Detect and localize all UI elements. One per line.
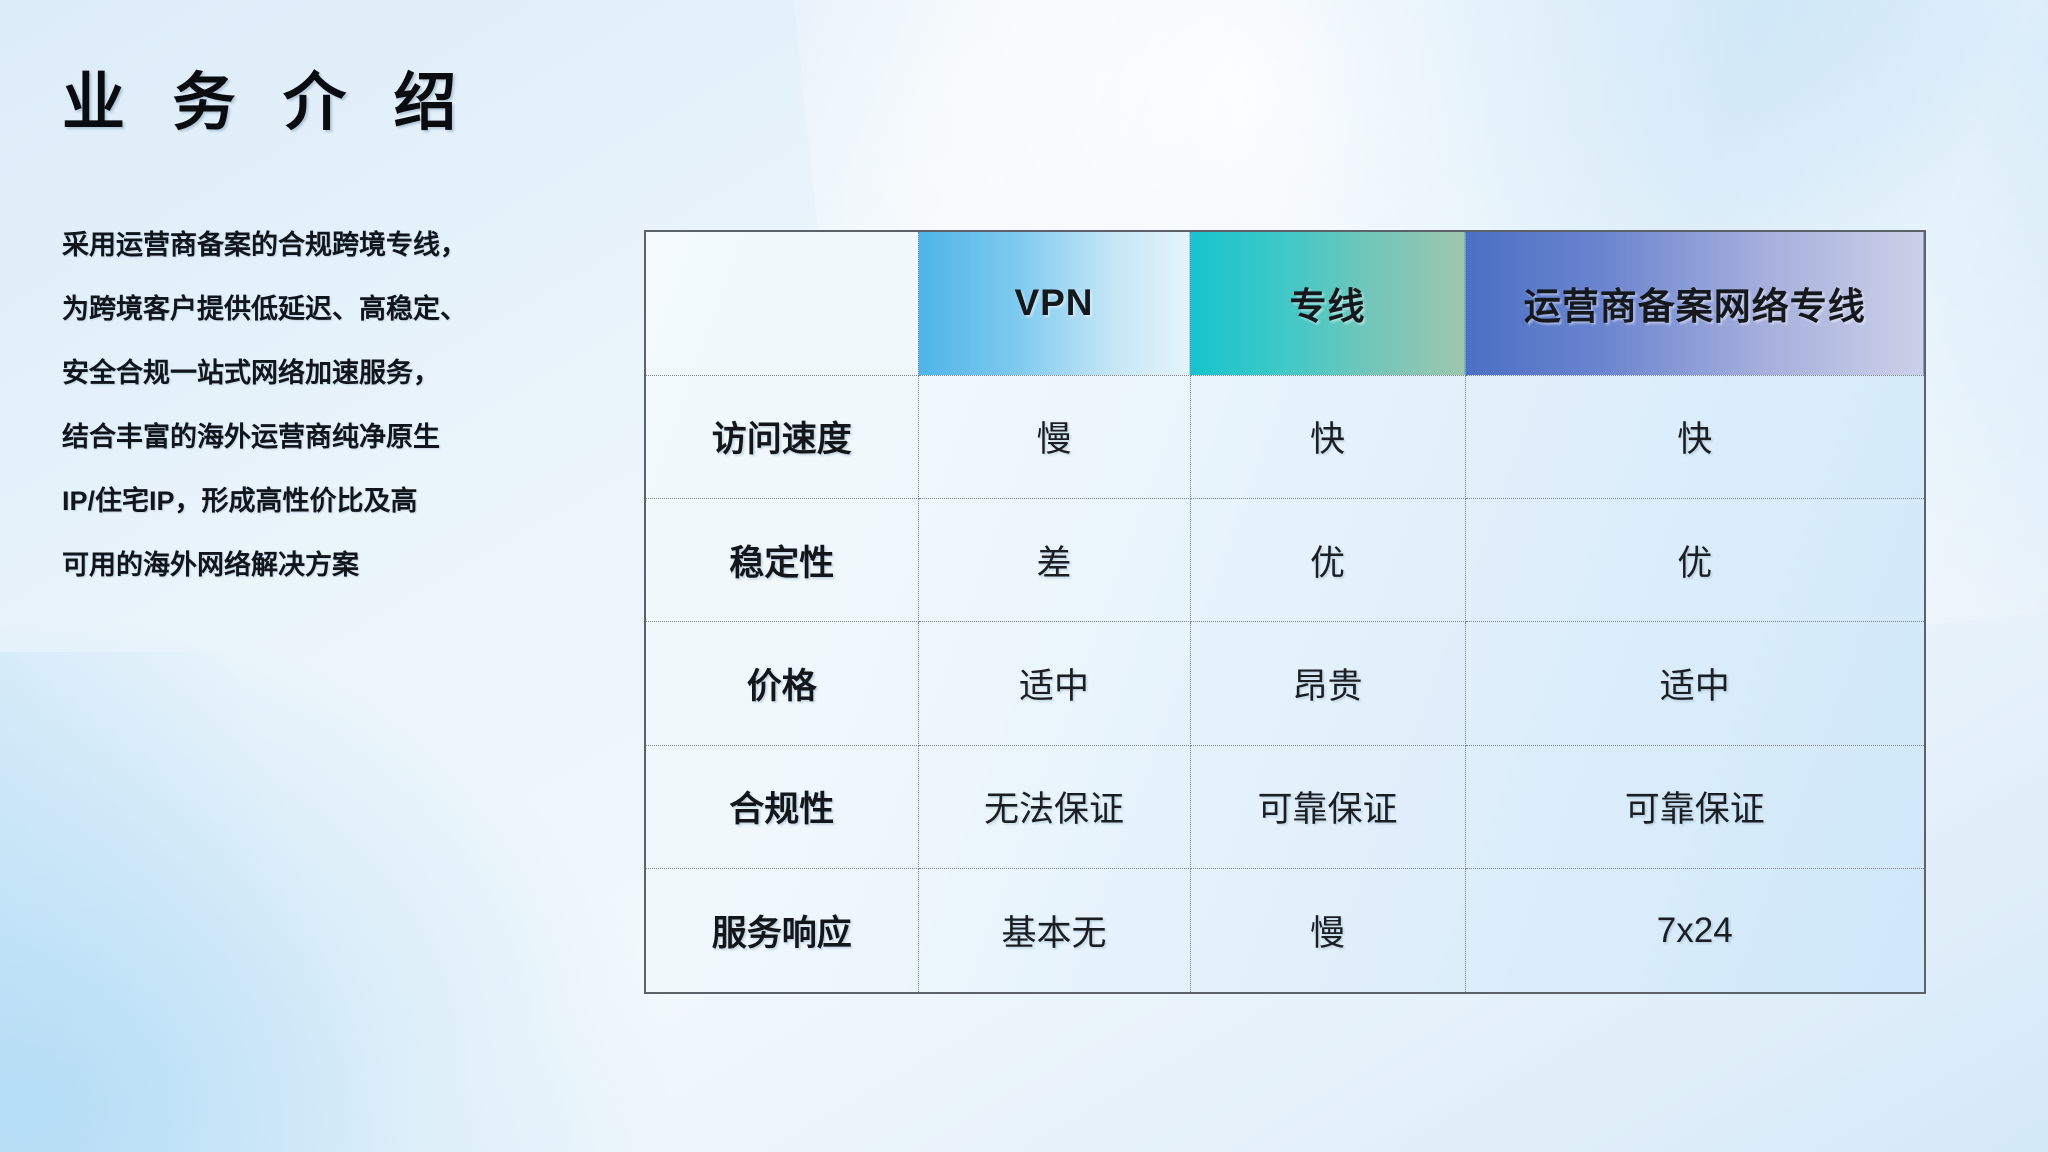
row-label: 合规性 [646, 745, 918, 868]
row-label: 访问速度 [646, 375, 918, 498]
slide-canvas: 业 务 介 绍 采用运营商备案的合规跨境专线， 为跨境客户提供低延迟、高稳定、 … [0, 0, 2048, 1152]
row-label: 服务响应 [646, 869, 918, 992]
table-header-cell-dedicated-line: 专线 [1190, 232, 1465, 375]
table-header: VPN 专线 运营商备案网络专线 [646, 232, 1924, 375]
intro-paragraph: 采用运营商备案的合规跨境专线， 为跨境客户提供低延迟、高稳定、 安全合规一站式网… [62, 232, 622, 579]
cell-dedicated-line: 可靠保证 [1190, 745, 1465, 868]
row-label: 稳定性 [646, 498, 918, 621]
table-row: 服务响应 基本无 慢 7x24 [646, 869, 1924, 992]
table-header-label: 运营商备案网络专线 [1524, 286, 1866, 327]
cell-dedicated-line: 优 [1190, 498, 1465, 621]
cell-carrier-line: 快 [1465, 375, 1924, 498]
table-row: 稳定性 差 优 优 [646, 498, 1924, 621]
intro-line: 安全合规一站式网络加速服务， [62, 360, 622, 387]
cell-vpn: 无法保证 [918, 745, 1190, 868]
cell-vpn: 差 [918, 498, 1190, 621]
cell-dedicated-line: 快 [1190, 375, 1465, 498]
cell-carrier-line: 可靠保证 [1465, 745, 1924, 868]
row-label: 价格 [646, 622, 918, 745]
table-header-label: VPN [1014, 282, 1093, 323]
comparison-table: VPN 专线 运营商备案网络专线 访问速度 慢 快 快 [646, 232, 1924, 992]
intro-line: IP/住宅IP，形成高性价比及高 [62, 488, 622, 515]
cell-carrier-line: 7x24 [1465, 869, 1924, 992]
comparison-table-container: VPN 专线 运营商备案网络专线 访问速度 慢 快 快 [644, 230, 1926, 994]
cell-dedicated-line: 昂贵 [1190, 622, 1465, 745]
intro-line: 结合丰富的海外运营商纯净原生 [62, 424, 622, 451]
table-row: 访问速度 慢 快 快 [646, 375, 1924, 498]
table-body: 访问速度 慢 快 快 稳定性 差 优 优 价格 适中 昂贵 适中 [646, 375, 1924, 992]
page-title: 业 务 介 绍 [62, 52, 472, 143]
table-row: 价格 适中 昂贵 适中 [646, 622, 1924, 745]
table-header-cell-blank [646, 232, 918, 375]
table-header-label: 专线 [1290, 286, 1366, 327]
intro-line: 为跨境客户提供低延迟、高稳定、 [62, 296, 622, 323]
cell-vpn: 基本无 [918, 869, 1190, 992]
cell-carrier-line: 优 [1465, 498, 1924, 621]
cell-carrier-line: 适中 [1465, 622, 1924, 745]
cell-vpn: 适中 [918, 622, 1190, 745]
table-header-row: VPN 专线 运营商备案网络专线 [646, 232, 1924, 375]
cell-vpn: 慢 [918, 375, 1190, 498]
intro-line: 采用运营商备案的合规跨境专线， [62, 232, 622, 259]
intro-line: 可用的海外网络解决方案 [62, 552, 622, 579]
table-row: 合规性 无法保证 可靠保证 可靠保证 [646, 745, 1924, 868]
cell-dedicated-line: 慢 [1190, 869, 1465, 992]
table-header-cell-vpn: VPN [918, 232, 1190, 375]
table-header-cell-carrier-line: 运营商备案网络专线 [1465, 232, 1924, 375]
